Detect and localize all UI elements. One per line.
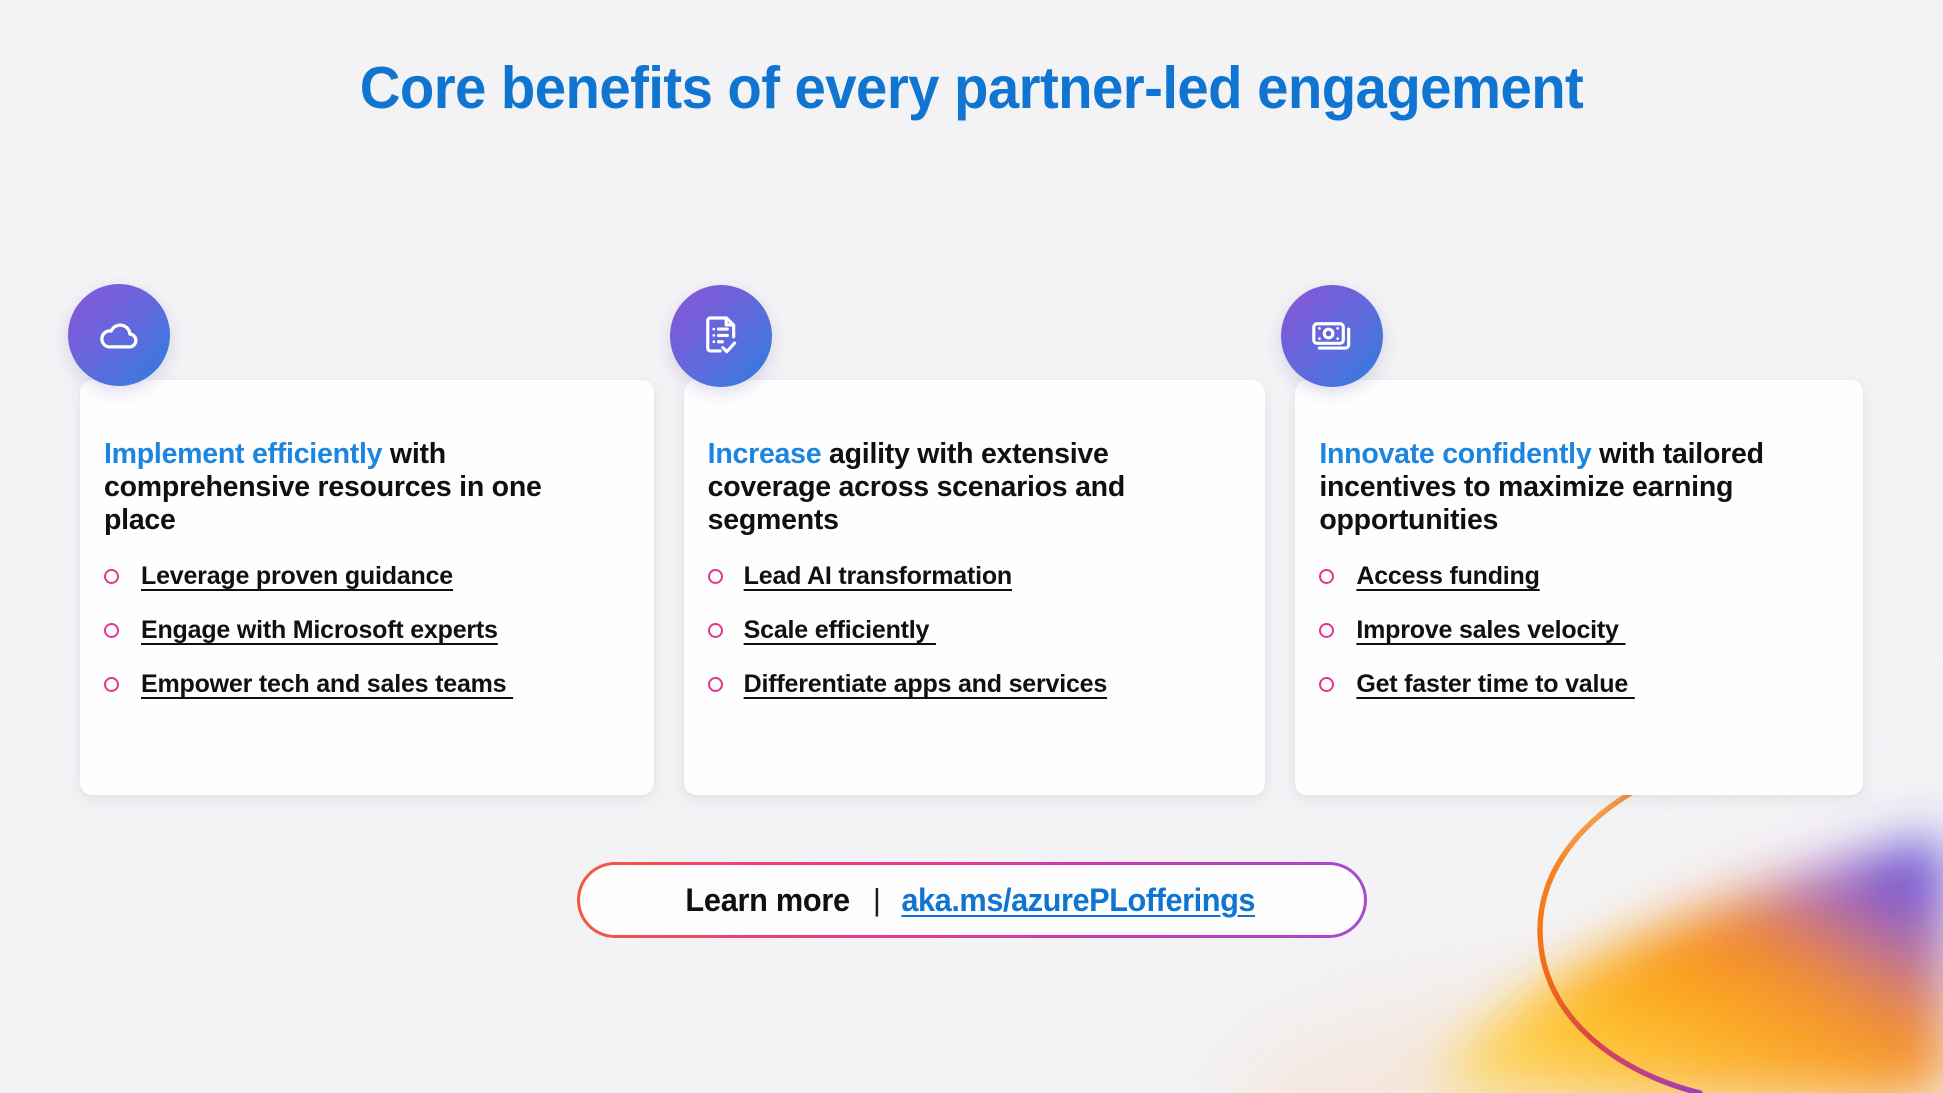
learn-more-cta[interactable]: Learn more | aka.ms/azurePLofferings bbox=[577, 862, 1367, 938]
ring-bullet-icon bbox=[1319, 623, 1334, 638]
checklist-document-icon bbox=[698, 313, 744, 359]
card-heading: Implement efficiently with comprehensive… bbox=[104, 438, 618, 536]
money-banknote-icon bbox=[1309, 313, 1355, 359]
ring-bullet-icon bbox=[708, 569, 723, 584]
ring-bullet-icon bbox=[104, 677, 119, 692]
card-heading: Increase agility with extensive coverage… bbox=[708, 438, 1222, 536]
list-item[interactable]: Empower tech and sales teams bbox=[104, 670, 618, 698]
list-item[interactable]: Scale efficiently bbox=[708, 616, 1222, 644]
money-banknote-icon-badge bbox=[1281, 285, 1383, 387]
card-heading: Innovate confidently with tailored incen… bbox=[1319, 438, 1833, 536]
ring-bullet-icon bbox=[1319, 569, 1334, 584]
cloud-icon-badge bbox=[68, 284, 170, 386]
benefit-link[interactable]: Improve sales velocity bbox=[1356, 616, 1625, 644]
benefit-cards-row: Implement efficiently with comprehensive… bbox=[80, 380, 1863, 795]
list-item[interactable]: Differentiate apps and services bbox=[708, 670, 1222, 698]
cta-separator: | bbox=[873, 882, 881, 918]
checklist-document-icon-badge bbox=[670, 285, 772, 387]
learn-more-cta-inner[interactable]: Learn more | aka.ms/azurePLofferings bbox=[580, 865, 1365, 936]
card-heading-accent: Increase bbox=[708, 438, 822, 470]
cta-url-link[interactable]: aka.ms/azurePLofferings bbox=[901, 882, 1255, 919]
benefit-card-increase-agility: Increase agility with extensive coverage… bbox=[684, 380, 1266, 795]
ring-bullet-icon bbox=[708, 677, 723, 692]
benefit-link-list: Leverage proven guidance Engage with Mic… bbox=[104, 562, 618, 698]
benefit-link-list: Lead AI transformation Scale efficiently… bbox=[708, 562, 1222, 698]
ring-bullet-icon bbox=[1319, 677, 1334, 692]
benefit-link[interactable]: Leverage proven guidance bbox=[141, 562, 453, 590]
list-item[interactable]: Get faster time to value bbox=[1319, 670, 1833, 698]
benefit-link[interactable]: Engage with Microsoft experts bbox=[141, 616, 498, 644]
list-item[interactable]: Engage with Microsoft experts bbox=[104, 616, 618, 644]
list-item[interactable]: Leverage proven guidance bbox=[104, 562, 618, 590]
benefit-link[interactable]: Empower tech and sales teams bbox=[141, 670, 513, 698]
benefit-link[interactable]: Get faster time to value bbox=[1356, 670, 1634, 698]
list-item[interactable]: Access funding bbox=[1319, 562, 1833, 590]
page-title: Core benefits of every partner-led engag… bbox=[44, 58, 1900, 120]
list-item[interactable]: Improve sales velocity bbox=[1319, 616, 1833, 644]
benefit-link[interactable]: Access funding bbox=[1356, 562, 1539, 590]
card-heading-accent: Implement efficiently bbox=[104, 438, 382, 470]
card-heading-accent: Innovate confidently bbox=[1319, 438, 1591, 470]
ring-bullet-icon bbox=[104, 569, 119, 584]
list-item[interactable]: Lead AI transformation bbox=[708, 562, 1222, 590]
benefit-card-innovate-confidently: Innovate confidently with tailored incen… bbox=[1295, 380, 1863, 795]
benefit-link[interactable]: Differentiate apps and services bbox=[744, 670, 1107, 698]
benefit-link-list: Access funding Improve sales velocity Ge… bbox=[1319, 562, 1833, 698]
cloud-icon bbox=[96, 312, 142, 358]
benefit-card-implement-efficiently: Implement efficiently with comprehensive… bbox=[80, 380, 654, 795]
ring-bullet-icon bbox=[104, 623, 119, 638]
benefit-link[interactable]: Lead AI transformation bbox=[744, 562, 1012, 590]
cta-label: Learn more bbox=[685, 882, 849, 919]
ring-bullet-icon bbox=[708, 623, 723, 638]
benefit-link[interactable]: Scale efficiently bbox=[744, 616, 936, 644]
